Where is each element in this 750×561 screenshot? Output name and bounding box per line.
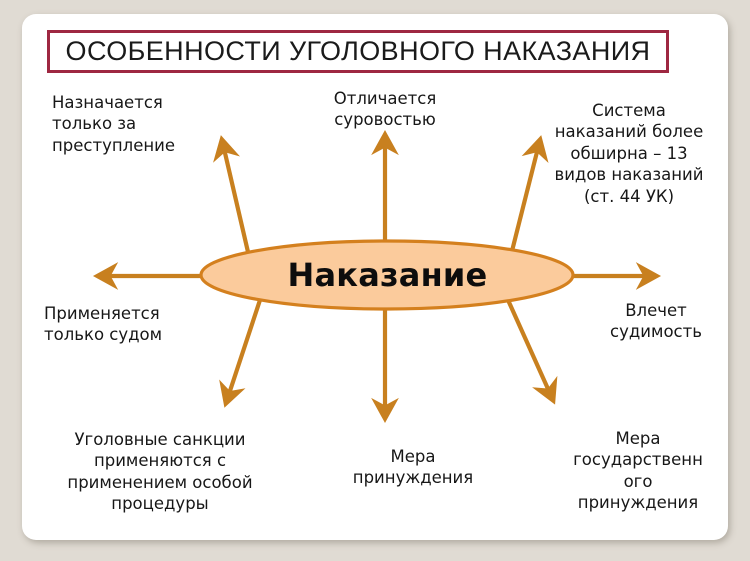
node-label-record: Влечет судимость xyxy=(580,300,732,343)
page-title: ОСОБЕННОСТИ УГОЛОВНОГО НАКАЗАНИЯ xyxy=(66,36,651,67)
node-label-state: Мера государственн ого принуждения xyxy=(548,428,728,514)
node-label-sanctions: Уголовные санкции применяются с применен… xyxy=(36,429,284,515)
node-label-court: Применяется только судом xyxy=(44,303,240,346)
diagram-canvas: ОСОБЕННОСТИ УГОЛОВНОГО НАКАЗАНИЯ xyxy=(0,0,750,561)
center-node-label: Наказание xyxy=(203,247,572,303)
node-label-measure: Мера принуждения xyxy=(330,446,496,489)
diagram-title-box: ОСОБЕННОСТИ УГОЛОВНОГО НАКАЗАНИЯ xyxy=(47,30,669,73)
node-label-system: Система наказаний более обширна – 13 вид… xyxy=(534,100,724,207)
node-label-severity: Отличается суровостью xyxy=(296,88,474,131)
node-label-prescribed: Назначается только за преступление xyxy=(52,92,252,156)
